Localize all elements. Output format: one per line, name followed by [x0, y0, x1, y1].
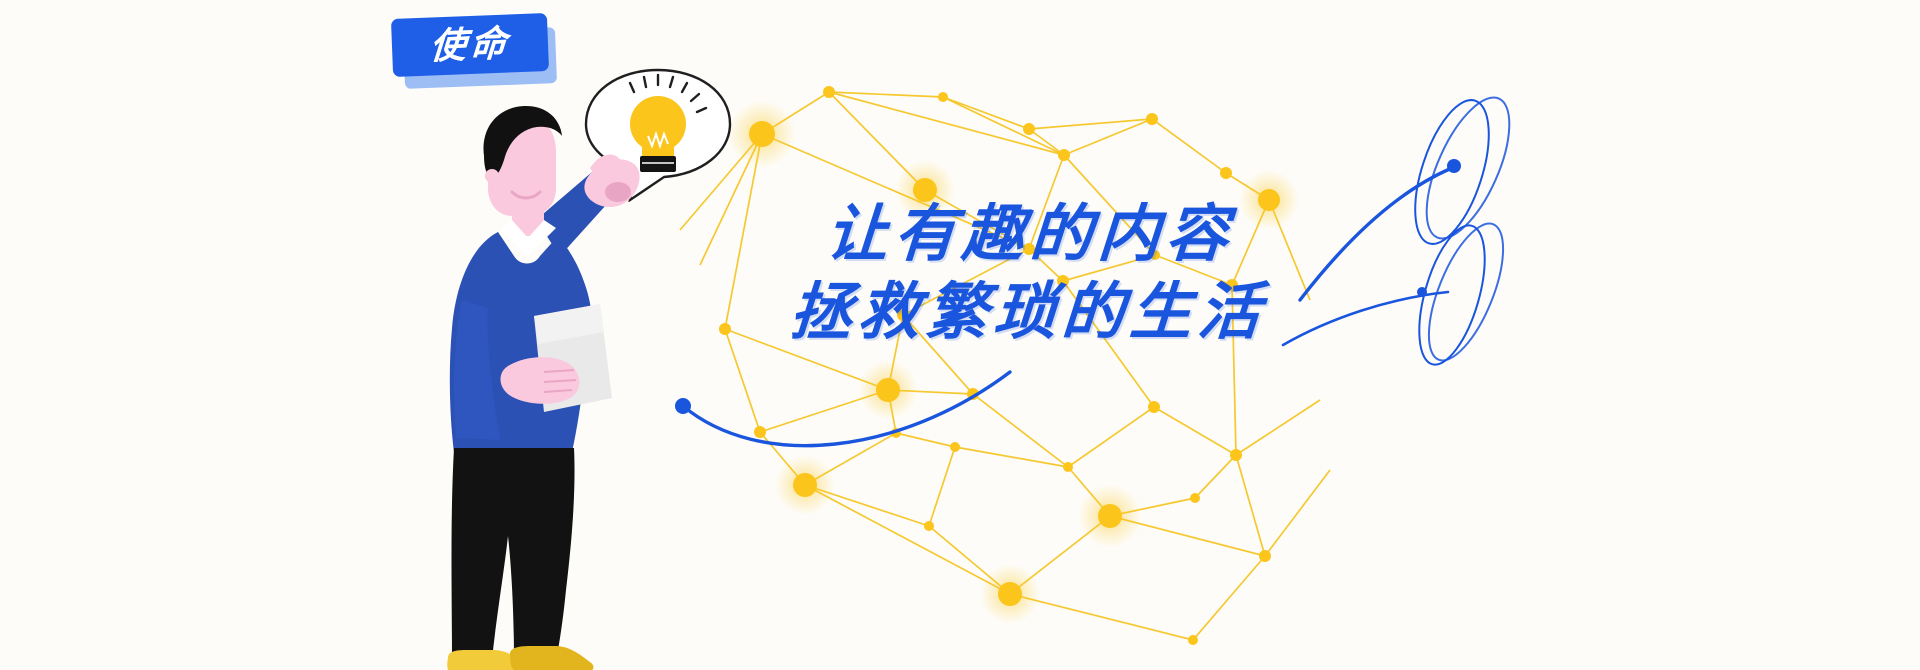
pointing-hand	[584, 155, 639, 208]
pointing-man-illustration	[440, 60, 720, 670]
network-edges	[680, 92, 1330, 640]
network-node-glows	[728, 100, 1299, 624]
head	[483, 106, 562, 216]
headline: 让有趣的内容 拯救繁琐的生活	[826, 196, 1566, 352]
headline-line-2: 拯救繁琐的生活	[787, 274, 1568, 352]
pants	[452, 448, 575, 660]
network-nodes	[719, 86, 1280, 645]
mission-banner: 使命	[0, 0, 1920, 670]
headline-line-1: 让有趣的内容	[823, 196, 1568, 274]
holding-hand	[501, 357, 580, 404]
orbit-upper-center-dot	[1447, 159, 1461, 173]
mission-badge-label: 使命	[429, 25, 511, 64]
